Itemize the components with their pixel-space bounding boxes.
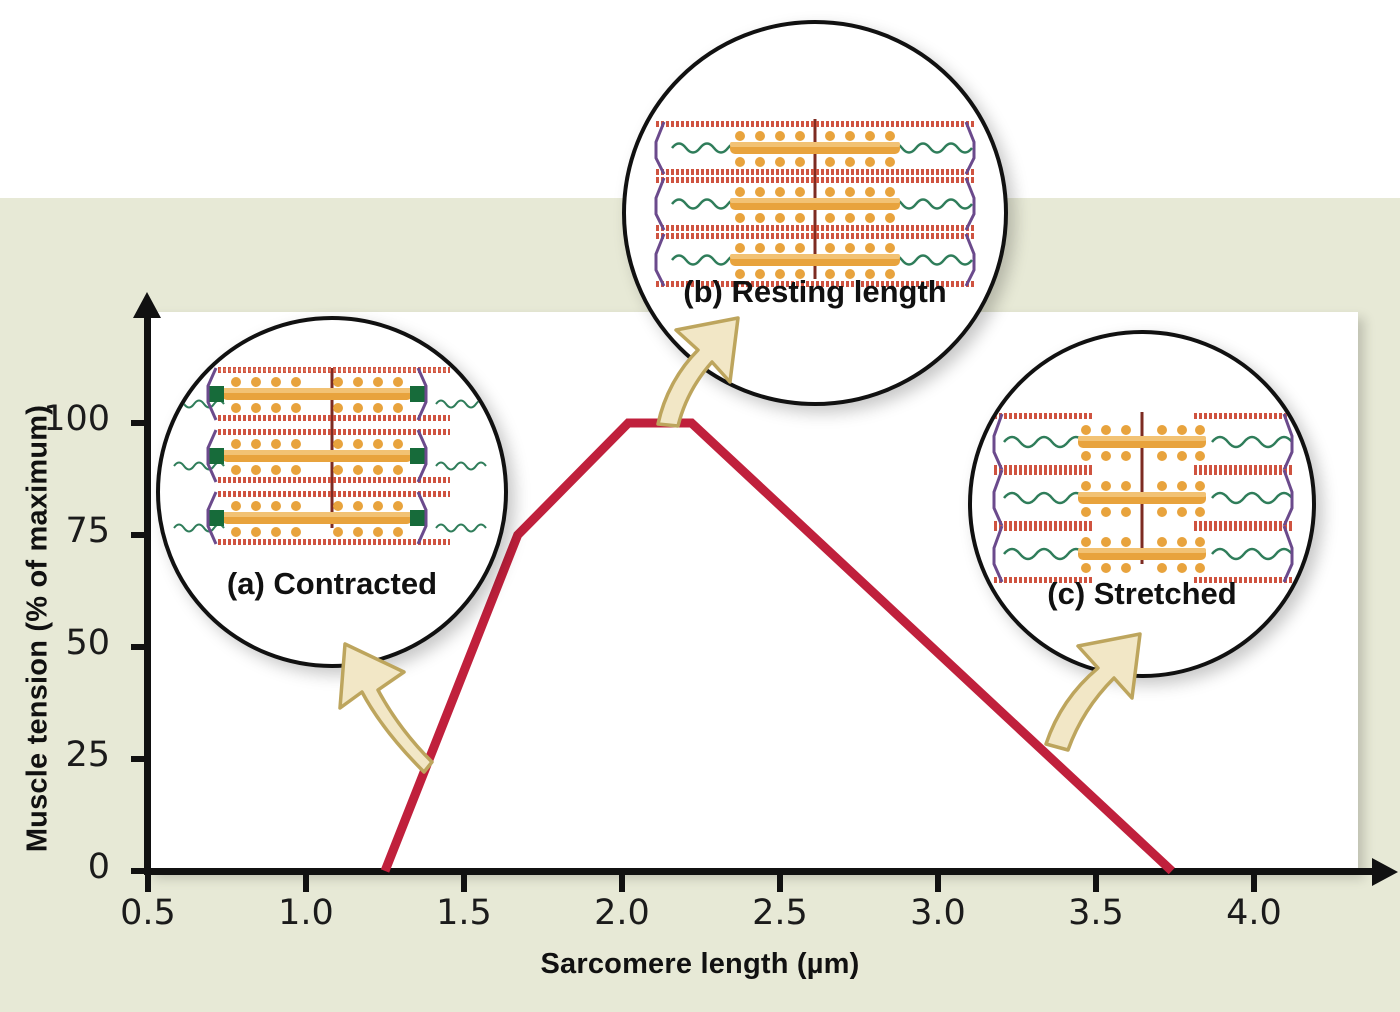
sarcomere-resting-icon [626,24,1004,402]
callout-caption-c: (c) Stretched [972,576,1312,612]
callout-contracted[interactable]: (a) Contracted [156,316,508,668]
sarcomere-contracted-icon [160,320,504,664]
sarcomere-stretched-icon [972,334,1312,674]
callout-stretched[interactable]: (c) Stretched [968,330,1316,678]
callout-caption-b: (b) Resting length [626,274,1004,310]
callout-resting-length[interactable]: (b) Resting length [622,20,1008,406]
callout-caption-a: (a) Contracted [160,566,504,602]
